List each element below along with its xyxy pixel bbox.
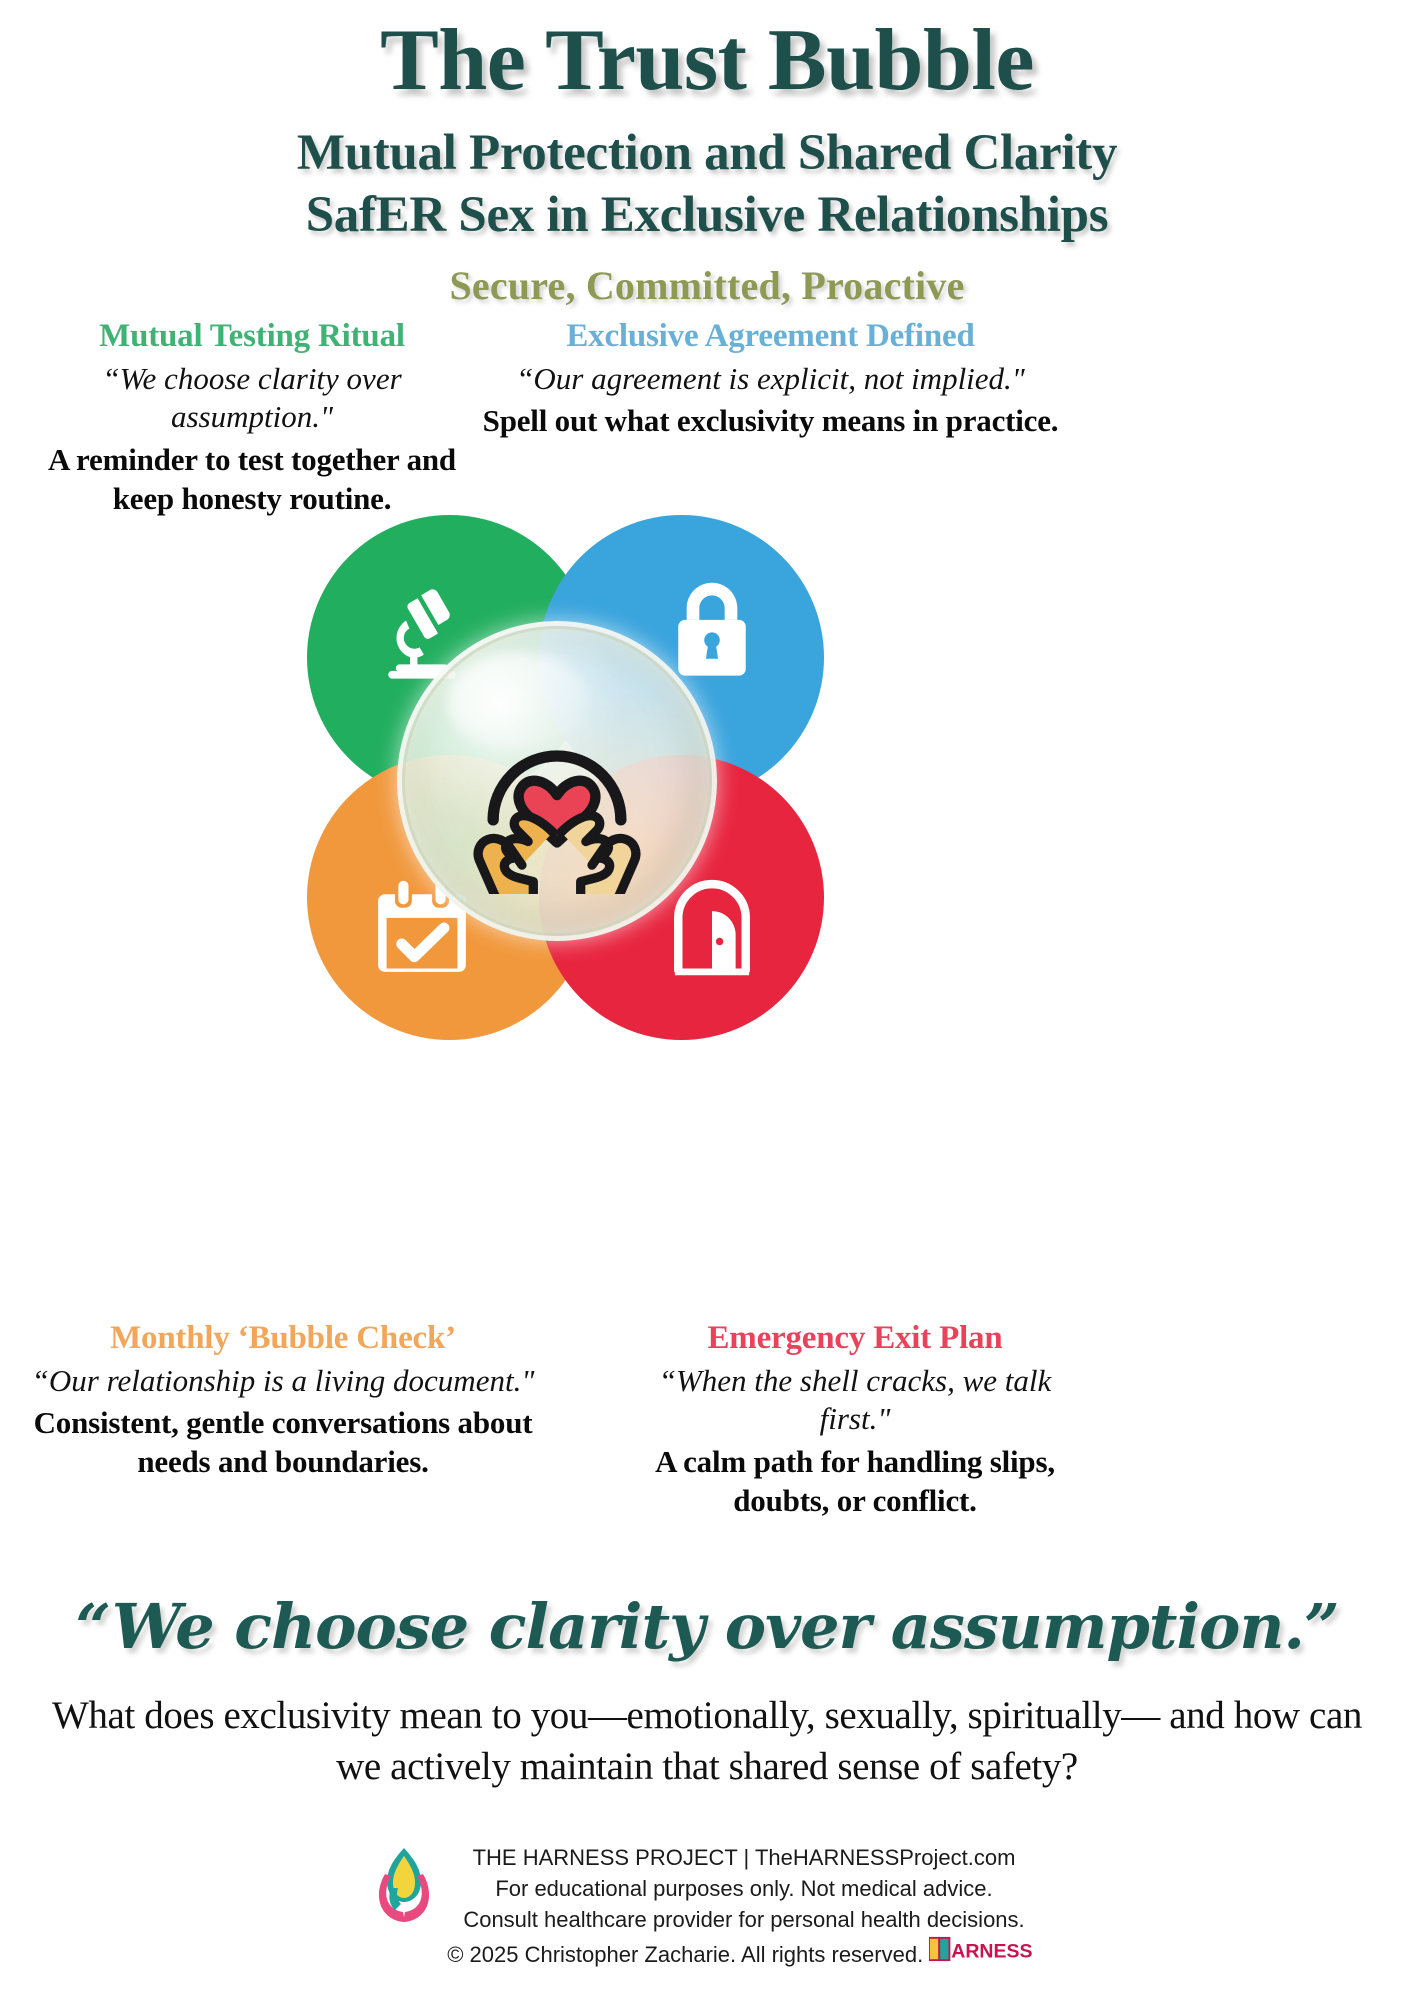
card-title-emergency-exit-plan: Emergency Exit Plan [620, 1320, 1090, 1358]
page-title: The Trust Bubble [0, 16, 1414, 106]
card-quote-emergency-exit-plan: “When the shell cracks, we talk first." [620, 1362, 1090, 1439]
infographic-poster: The Trust Bubble Mutual Protection and S… [0, 0, 1414, 2000]
card-quote-mutual-testing-ritual: “We choose clarity over assumption." [22, 360, 482, 437]
harness-wordmark-icon: ARNESS [929, 1936, 1040, 1962]
card-quote-exclusive-agreement-defined: “Our agreement is explicit, not implied.… [478, 360, 1063, 398]
footer-text-block: THE HARNESS PROJECT | TheHARNESSProject.… [447, 1842, 1041, 1970]
trust-bubble-sphere [397, 621, 717, 941]
footer-line-project: THE HARNESS PROJECT | TheHARNESSProject.… [447, 1842, 1041, 1873]
footer-line-disclaimer: For educational purposes only. Not medic… [447, 1873, 1041, 1904]
card-monthly-bubble-check: Monthly ‘Bubble Check’ “Our relationship… [18, 1320, 548, 1481]
card-description-exclusive-agreement-defined: Spell out what exclusivity means in prac… [478, 401, 1063, 440]
card-description-monthly-bubble-check: Consistent, gentle conversations about n… [18, 1403, 548, 1481]
card-mutual-testing-ritual: Mutual Testing Ritual “We choose clarity… [22, 318, 482, 518]
poster-header: The Trust Bubble Mutual Protection and S… [0, 0, 1414, 309]
footer-copyright-text: © 2025 Christopher Zacharie. All rights … [447, 1942, 923, 1967]
card-title-mutual-testing-ritual: Mutual Testing Ritual [22, 318, 482, 356]
card-description-emergency-exit-plan: A calm path for handling slips, doubts, … [620, 1442, 1090, 1520]
closing-question: What does exclusivity mean to you—emotio… [26, 1690, 1388, 1793]
footer-line-consult: Consult healthcare provider for personal… [447, 1904, 1041, 1935]
lock-icon [658, 576, 766, 684]
svg-text:ARNESS: ARNESS [952, 1940, 1033, 1962]
card-quote-monthly-bubble-check: “Our relationship is a living document." [18, 1362, 548, 1400]
tagline: Secure, Committed, Proactive [0, 262, 1414, 309]
poster-footer: THE HARNESS PROJECT | TheHARNESSProject.… [0, 1842, 1414, 1970]
harness-project-logo-icon [373, 1844, 435, 1930]
footer-copyright-row: © 2025 Christopher Zacharie. All rights … [447, 1936, 1041, 1970]
bubble-rim [397, 621, 717, 941]
card-exclusive-agreement-defined: Exclusive Agreement Defined “Our agreeme… [478, 318, 1063, 440]
closing-script-quote: “We choose clarity over assumption.” [0, 1590, 1414, 1663]
card-title-exclusive-agreement-defined: Exclusive Agreement Defined [478, 318, 1063, 356]
trust-bubble-graphic [293, 505, 838, 1050]
subtitle-line-1: Mutual Protection and Shared Clarity [0, 122, 1414, 184]
subtitle-line-2: SafER Sex in Exclusive Relationships [0, 184, 1414, 246]
card-title-monthly-bubble-check: Monthly ‘Bubble Check’ [18, 1320, 548, 1358]
closing-question-line-1: What does exclusivity mean to you—emotio… [52, 1694, 1160, 1737]
card-emergency-exit-plan: Emergency Exit Plan “When the shell crac… [620, 1320, 1090, 1520]
